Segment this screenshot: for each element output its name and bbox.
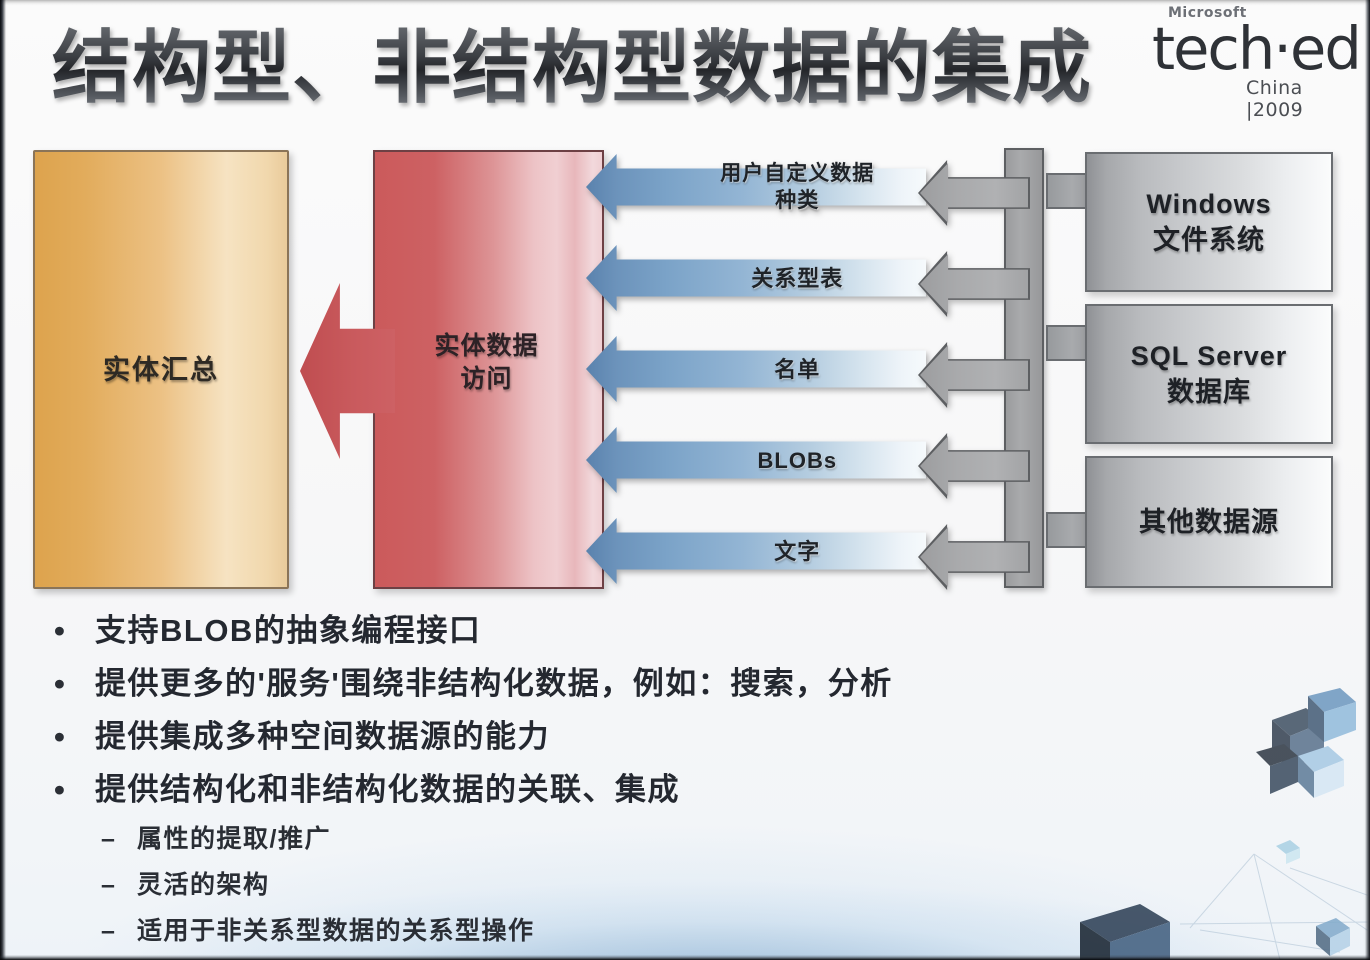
source-card-sqlserver-line1: SQL Server	[1131, 338, 1288, 374]
bullet-text-0: 支持BLOB的抽象编程接口	[95, 613, 481, 648]
entity-data-access-label: 实体数据 访问	[373, 330, 600, 396]
source-tab-0	[1046, 173, 1090, 209]
integration-diagram: 实体汇总 实体数据 访问 用户自定义数据 种类 关系型表	[0, 140, 1370, 605]
bullet-marker-icon: •	[54, 657, 66, 710]
slide-right-edge	[1365, 0, 1370, 960]
data-type-arrow-2: 名单	[586, 336, 926, 402]
data-type-arrow-3: BLOBs	[586, 427, 926, 493]
source-card-other: 其他数据源	[1085, 456, 1333, 588]
slide-canvas: 结构型、非结构型数据的集成 Microsoft tech·ed China |2…	[0, 0, 1370, 960]
data-type-arrow-4: 文字	[586, 518, 926, 584]
data-type-label-0-wrap: 用户自定义数据 种类	[720, 160, 874, 214]
dash-marker-icon: –	[101, 862, 116, 908]
dash-marker-icon: –	[101, 816, 116, 862]
bullet-marker-icon: •	[54, 710, 66, 763]
bullet-text-1: 提供更多的'服务'围绕非结构化数据，例如：搜索，分析	[95, 666, 893, 701]
teched-logo: Microsoft tech·ed China |2009	[1150, 6, 1356, 112]
dash-marker-icon: –	[101, 908, 116, 954]
bullet-marker-icon: •	[54, 604, 66, 657]
data-type-arrow-1: 关系型表	[586, 245, 926, 311]
source-card-windows-line1: Windows	[1146, 186, 1271, 222]
source-card-other-label: 其他数据源	[1139, 504, 1279, 540]
source-card-sqlserver: SQL Server 数据库	[1085, 304, 1333, 444]
bullet-marker-icon: •	[54, 763, 66, 816]
source-tab-2	[1046, 512, 1090, 548]
data-type-label-3: BLOBs	[617, 427, 926, 493]
source-card-other-line1: 其他数据源	[1139, 504, 1279, 540]
data-type-label-4: 文字	[617, 518, 926, 584]
logo-teched-text: tech·ed	[1152, 21, 1356, 77]
entity-data-access-label-line1: 实体数据	[373, 330, 600, 363]
bullet-text-3: 提供结构化和非结构化数据的关联、集成	[95, 772, 680, 807]
sub-bullet-text-2: 适用于非关系型数据的关系型操作	[137, 917, 535, 945]
source-card-windows-label: Windows 文件系统	[1146, 186, 1271, 258]
source-card-sqlserver-line2: 数据库	[1131, 374, 1288, 410]
bullet-item-0: • 支持BLOB的抽象编程接口	[95, 604, 1370, 657]
source-card-sqlserver-label: SQL Server 数据库	[1131, 338, 1288, 410]
page-title: 结构型、非结构型数据的集成	[52, 18, 1142, 118]
data-type-label-2: 名单	[617, 336, 926, 402]
data-type-label-1: 关系型表	[617, 245, 926, 311]
logo-year-text: |2009	[1246, 99, 1303, 121]
sub-bullet-text-1: 灵活的架构	[137, 871, 270, 899]
source-card-windows: Windows 文件系统	[1085, 152, 1333, 292]
bullet-text-2: 提供集成多种空间数据源的能力	[95, 719, 550, 754]
sub-bullet-text-0: 属性的提取/推广	[137, 825, 331, 853]
slide-bottom-edge	[0, 955, 1370, 960]
entity-data-access-label-line2: 访问	[373, 363, 600, 396]
slide-left-edge	[0, 0, 6, 960]
entity-data-access-group: 实体数据 访问	[300, 150, 600, 585]
entity-summary-box: 实体汇总	[33, 150, 289, 589]
data-type-label-0-line1: 用户自定义数据	[720, 162, 874, 185]
source-card-windows-line2: 文件系统	[1146, 222, 1271, 258]
logo-china-year: China |2009	[1246, 77, 1356, 121]
corner-cubes-decoration	[1040, 660, 1370, 960]
entity-summary-label: 实体汇总	[35, 348, 287, 387]
source-bus-connector	[918, 148, 1058, 588]
data-type-label-0: 用户自定义数据 种类	[617, 154, 926, 220]
logo-china-text: China	[1246, 77, 1303, 99]
source-tab-1	[1046, 325, 1090, 361]
data-type-arrow-0: 用户自定义数据 种类	[586, 154, 926, 220]
data-type-label-0-line2: 种类	[775, 189, 819, 212]
